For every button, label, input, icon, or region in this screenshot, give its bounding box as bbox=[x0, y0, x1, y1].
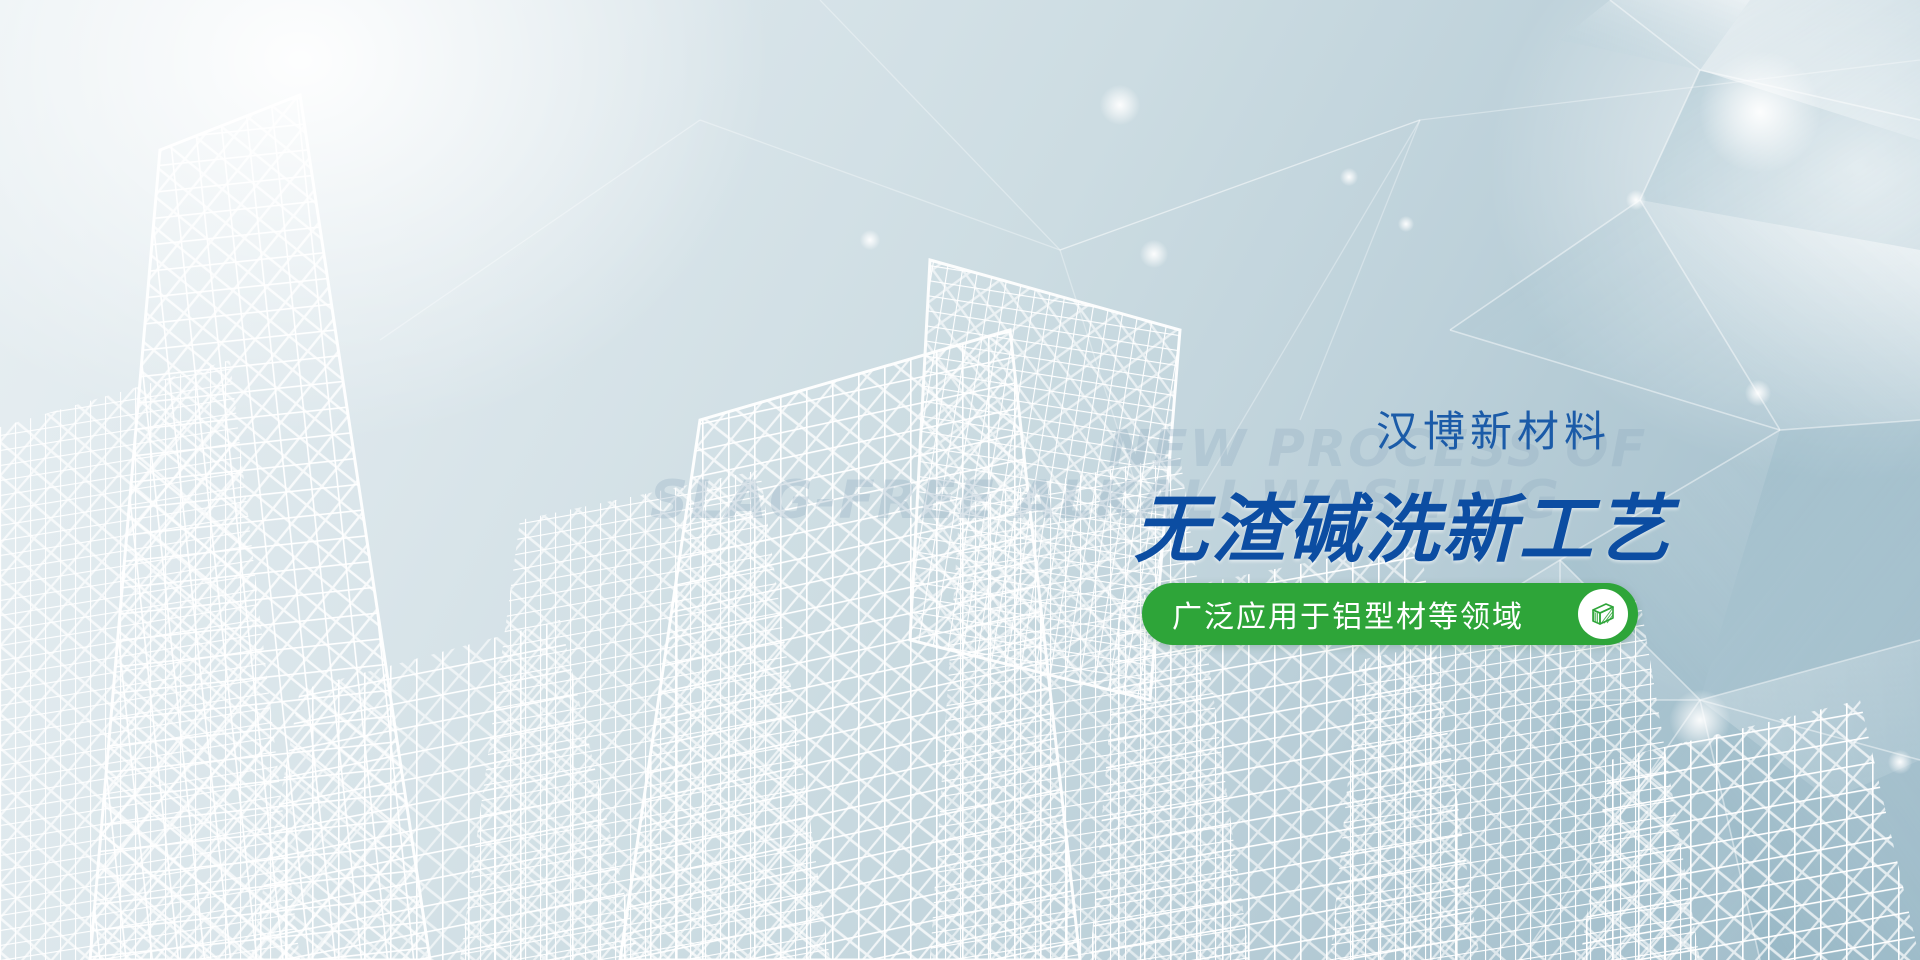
glow-node bbox=[1700, 52, 1820, 172]
glow-node bbox=[1398, 216, 1414, 232]
glow-node bbox=[1340, 168, 1358, 186]
glow-node bbox=[1100, 85, 1140, 125]
application-cta[interactable]: 广泛应用于铝型材等领域 bbox=[1142, 583, 1638, 645]
network-nodes bbox=[0, 0, 1920, 960]
glow-node bbox=[860, 230, 880, 250]
glow-node bbox=[1140, 240, 1168, 268]
hero-banner: NEW PROCESS OF SLAG-FREE ALKALI WASHING … bbox=[0, 0, 1920, 960]
aluminium-profile-icon bbox=[1578, 589, 1628, 639]
glow-node bbox=[1670, 690, 1730, 750]
glow-node bbox=[1626, 190, 1646, 210]
glow-node bbox=[1745, 380, 1771, 406]
glow-node bbox=[1888, 750, 1912, 774]
application-cta-label: 广泛应用于铝型材等领域 bbox=[1172, 592, 1524, 636]
